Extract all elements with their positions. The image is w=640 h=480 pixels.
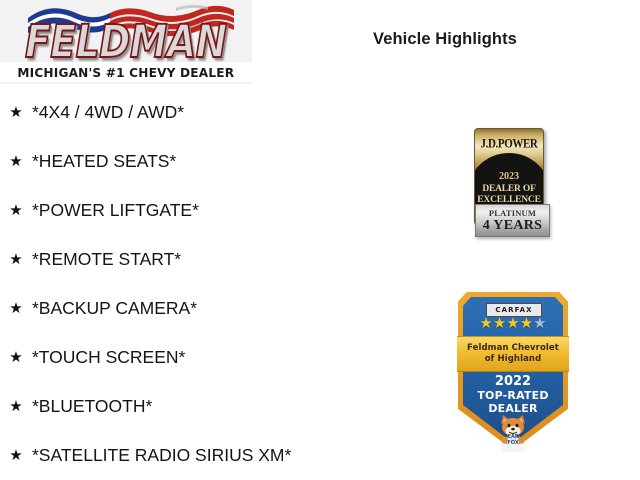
carfax-star-rating: ★★★★★ xyxy=(458,316,568,332)
dealer-logo-tagline: MICHIGAN'S #1 CHEVY DEALER xyxy=(18,65,235,80)
dealer-logo-tagline-bar: MICHIGAN'S #1 CHEVY DEALER xyxy=(0,62,252,82)
carfax-top-rated-dealer-badge: CARFAX ★★★★★ Feldman Chevrolet of Highla… xyxy=(458,292,568,454)
list-item: ★ *TOUCH SCREEN* xyxy=(8,333,438,382)
carfax-dealer-name-line-1: Feldman Chevrolet xyxy=(467,343,559,354)
list-item: ★ *BACKUP CAMERA* xyxy=(8,284,438,333)
carfax-dealer-name-line-2: of Highland xyxy=(485,354,542,365)
vehicle-highlights-list: ★ *4X4 / 4WD / AWD* ★ *HEATED SEATS* ★ *… xyxy=(8,88,438,480)
list-item: ★ *HEATED SEATS* xyxy=(8,137,438,186)
list-item: ★ *4X4 / 4WD / AWD* xyxy=(8,88,438,137)
car-fox-shirt-label: CAR FOX xyxy=(498,435,528,446)
jdpower-year: 2023 xyxy=(475,171,543,182)
dealer-logo-wordmark-text: FELDMAN xyxy=(25,18,227,63)
list-item-label: *TOUCH SCREEN* xyxy=(32,349,185,367)
rating-star-icon: ★ xyxy=(506,315,519,332)
list-item-label: *4X4 / 4WD / AWD* xyxy=(32,104,184,122)
jdpower-tier-ribbon: PLATINUM 4 YEARS xyxy=(475,204,550,237)
star-bullet-icon: ★ xyxy=(8,399,24,414)
rating-star-icon: ★ xyxy=(520,315,533,332)
list-item-label: *REMOTE START* xyxy=(32,251,181,269)
jdpower-award-badge: J.D.POWER 2023 DEALER OF EXCELLENCE PLAT… xyxy=(474,128,548,236)
list-item: ★ *POWER LIFTGATE* xyxy=(8,186,438,235)
jdpower-award-line-1: DEALER OF xyxy=(475,184,543,194)
star-bullet-icon: ★ xyxy=(8,301,24,316)
list-item: ★ *BLUETOOTH* xyxy=(8,382,438,431)
star-bullet-icon: ★ xyxy=(8,203,24,218)
car-fox-mascot-icon xyxy=(495,414,531,452)
dealer-logo: FELDMAN MICHIGAN'S #1 CHEVY DEALER xyxy=(0,0,252,84)
list-item-label: *BACKUP CAMERA* xyxy=(32,300,197,318)
list-item: ★ *REMOTE START* xyxy=(8,235,438,284)
star-bullet-icon: ★ xyxy=(8,154,24,169)
star-bullet-icon: ★ xyxy=(8,252,24,267)
carfax-award-year: 2022 xyxy=(458,374,568,389)
jdpower-duration-label: 4 YEARS xyxy=(476,218,549,234)
jdpower-award-line-2: EXCELLENCE xyxy=(475,195,543,205)
list-item-label: *SATELLITE RADIO SIRIUS XM* xyxy=(32,447,291,465)
list-item-label: *HEATED SEATS* xyxy=(32,153,176,171)
rating-star-icon-empty: ★ xyxy=(533,315,546,332)
carfax-dealer-name-ribbon: Feldman Chevrolet of Highland xyxy=(457,336,569,372)
list-item-label: *POWER LIFTGATE* xyxy=(32,202,199,220)
dealer-logo-wordmark: FELDMAN xyxy=(8,20,244,62)
rating-star-icon: ★ xyxy=(479,315,492,332)
star-bullet-icon: ★ xyxy=(8,105,24,120)
carfax-award-line-1: TOP-RATED xyxy=(458,389,568,402)
star-bullet-icon: ★ xyxy=(8,350,24,365)
jdpower-brand-text: J.D.POWER xyxy=(475,137,543,150)
car-fox-shirt-line-2: FOX xyxy=(498,441,528,447)
list-item: ★ *SATELLITE RADIO SIRIUS XM* xyxy=(8,431,438,480)
page-title: Vehicle Highlights xyxy=(300,30,590,49)
carfax-wordmark: CARFAX xyxy=(495,306,532,314)
jdpower-tier-label: PLATINUM xyxy=(476,208,549,218)
list-item-label: *BLUETOOTH* xyxy=(32,398,152,416)
star-bullet-icon: ★ xyxy=(8,448,24,463)
rating-star-icon: ★ xyxy=(493,315,506,332)
